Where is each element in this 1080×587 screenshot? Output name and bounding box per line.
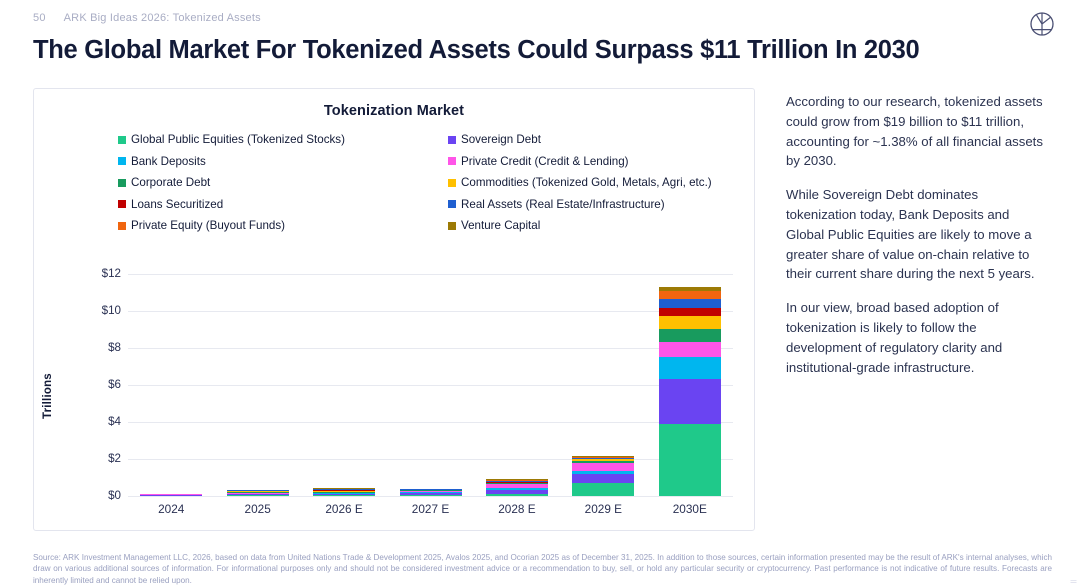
y-axis-tick: $2 xyxy=(61,452,121,465)
bar-column[interactable] xyxy=(486,479,548,496)
commentary-panel: According to our research, tokenized ass… xyxy=(786,92,1048,377)
chart-card: Tokenization Market Global Public Equiti… xyxy=(33,88,755,531)
y-axis-tick: $0 xyxy=(61,489,121,502)
gridline xyxy=(128,348,733,349)
bar-segment[interactable] xyxy=(659,291,721,299)
bar-column[interactable] xyxy=(572,456,634,496)
bar-segment[interactable] xyxy=(659,329,721,342)
x-axis-tick: 2025 xyxy=(213,502,303,516)
gridline xyxy=(128,311,733,312)
bar-segment[interactable] xyxy=(400,495,462,496)
bar-segment[interactable] xyxy=(659,357,721,379)
y-axis-tick: $6 xyxy=(61,378,121,391)
bar-segment[interactable] xyxy=(659,424,721,496)
gridline xyxy=(128,496,733,497)
bar-segment[interactable] xyxy=(227,495,289,496)
source-footnote: Source: ARK Investment Management LLC, 2… xyxy=(33,552,1052,586)
plot-canvas: $0$2$4$6$8$10$12202420252026 E2027 E2028… xyxy=(128,274,733,496)
bar-segment[interactable] xyxy=(572,474,634,483)
gridline xyxy=(128,274,733,275)
bar-segment[interactable] xyxy=(659,316,721,329)
slide: 50 ARK Big Ideas 2026: Tokenized Assets … xyxy=(0,0,1080,587)
bar-segment[interactable] xyxy=(140,495,202,496)
plot-area: Trillions $0$2$4$6$8$10$12202420252026 E… xyxy=(34,89,756,532)
y-axis-tick: $12 xyxy=(61,267,121,280)
bar-column[interactable] xyxy=(659,287,721,496)
y-axis-tick: $10 xyxy=(61,304,121,317)
x-axis-tick: 2026 E xyxy=(299,502,389,516)
bar-segment[interactable] xyxy=(572,483,634,496)
commentary-paragraph-1: According to our research, tokenized ass… xyxy=(786,92,1048,171)
bar-segment[interactable] xyxy=(659,299,721,308)
bar-segment[interactable] xyxy=(659,308,721,316)
gridline xyxy=(128,459,733,460)
y-axis-tick: $4 xyxy=(61,415,121,428)
bar-segment[interactable] xyxy=(659,379,721,423)
deck-name: ARK Big Ideas 2026: Tokenized Assets xyxy=(64,12,261,24)
bar-column[interactable] xyxy=(400,489,462,496)
bar-segment[interactable] xyxy=(659,342,721,357)
bar-segment[interactable] xyxy=(313,495,375,496)
commentary-paragraph-3: In our view, broad based adoption of tok… xyxy=(786,298,1048,377)
bar-column[interactable] xyxy=(140,494,202,496)
y-axis-tick: $8 xyxy=(61,341,121,354)
bar-column[interactable] xyxy=(313,488,375,496)
x-axis-tick: 2028 E xyxy=(472,502,562,516)
x-axis-tick: 2029 E xyxy=(558,502,648,516)
page-number: 50 xyxy=(33,12,46,24)
gridline xyxy=(128,385,733,386)
x-axis-tick: 2030E xyxy=(645,502,735,516)
commentary-paragraph-2: While Sovereign Debt dominates tokenizat… xyxy=(786,185,1048,284)
bar-segment[interactable] xyxy=(486,494,548,496)
slide-topbar: 50 ARK Big Ideas 2026: Tokenized Assets xyxy=(33,12,261,24)
gridline xyxy=(128,422,733,423)
side-rail-marks: || xyxy=(1070,580,1076,583)
bar-column[interactable] xyxy=(227,490,289,496)
x-axis-tick: 2027 E xyxy=(386,502,476,516)
x-axis-tick: 2024 xyxy=(126,502,216,516)
page-title: The Global Market For Tokenized Assets C… xyxy=(33,36,1040,65)
ark-logo-icon xyxy=(1028,10,1056,38)
bar-segment[interactable] xyxy=(572,463,634,471)
y-axis-label: Trillions xyxy=(42,373,54,419)
